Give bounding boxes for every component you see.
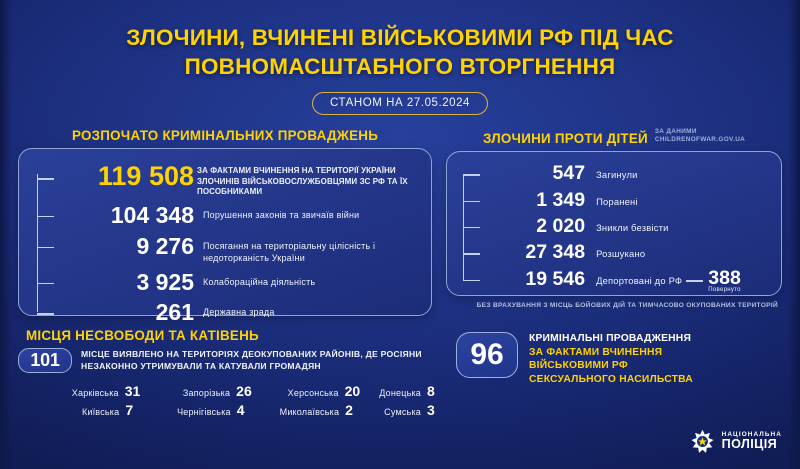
detention-badge: 101 [18,348,72,373]
sv-line-2: ЗА ФАКТАМИ ВЧИНЕННЯ [529,347,662,358]
page-title: ЗЛОЧИНИ, ВЧИНЕНІ ВІЙСЬКОВИМИ РФ ПІД ЧАС … [0,24,800,81]
region-value: 8 [427,383,442,399]
children-value: 2 020 [489,216,585,237]
returned-value: 388 [708,269,741,289]
children-row: 27 348 Розшукано [489,242,767,263]
region-value: 26 [236,383,252,399]
proceedings-value: 104 348 [63,203,194,229]
connector-line [686,280,703,281]
region-item: Київська 7 [24,402,140,418]
proceedings-row: 3 925 Колабораційна діяльність [63,270,417,296]
proceedings-rows: 119 508 ЗА ФАКТАМИ ВЧИНЕННЯ НА ТЕРИТОРІЇ… [37,162,417,326]
sexual-violence-section: 96 КРИМІНАЛЬНІ ПРОВАДЖЕННЯ ЗА ФАКТАМИ ВЧ… [456,328,782,418]
region-name: Сумська [384,407,421,417]
police-logo: НАЦІОНАЛЬНА ПОЛІЦІЯ [690,429,782,454]
proceedings-heading-text: РОЗПОЧАТО КРИМІНАЛЬНИХ ПРОВАДЖЕНЬ [72,128,378,143]
header: ЗЛОЧИНИ, ВЧИНЕНІ ВІЙСЬКОВИМИ РФ ПІД ЧАС … [0,0,800,115]
detention-heading: МІСЦЯ НЕСВОБОДИ ТА КАТІВЕНЬ [18,328,442,343]
proceedings-value: 119 508 [63,162,194,192]
region-value: 2 [345,402,360,418]
proceedings-row: 9 276 Посягання на територіальну цілісні… [63,234,417,265]
region-value: 31 [125,383,141,399]
region-name: Чернігівська [177,407,231,417]
region-name: Донецька [379,388,421,398]
children-value: 547 [489,163,585,184]
children-rows: 547 Загинули 1 349 Поранені 2 020 Зникли… [463,163,767,293]
proceedings-label: Посягання на територіальну цілісність і … [194,234,417,265]
region-item: Запорізька 26 [140,383,251,399]
left-edge-vignette [0,0,12,469]
region-name: Херсонська [288,388,339,398]
main-columns: РОЗПОЧАТО КРИМІНАЛЬНИХ ПРОВАДЖЕНЬ 119 50… [0,115,800,316]
children-heading: ЗЛОЧИНИ ПРОТИ ДІТЕЙ ЗА ДАНИМИ CHILDRENOF… [446,128,782,146]
children-label: Поранені [585,190,638,209]
children-returned: 388 Повернуто [686,269,741,294]
children-row: 2 020 Зникли безвісти [489,216,767,237]
proceedings-label: Порушення законів та звичаїв війни [194,203,359,222]
children-source-line1: ЗА ДАНИМИ [655,128,697,135]
proceedings-value: 9 276 [63,234,194,260]
regions-list: Харківська 31 Запорізька 26 Херсонська 2… [18,383,442,418]
region-name: Київська [82,407,119,417]
region-name: Миколаївська [280,407,340,417]
children-label: Депортовані до РФ [585,269,682,288]
children-label: Загинули [585,163,638,182]
date-badge: СТАНОМ НА 27.05.2024 [312,92,488,115]
region-item: Донецька 8 [360,383,442,399]
regions-row: Київська 7 Чернігівська 4 Миколаївська 2… [24,402,442,418]
children-column: ЗЛОЧИНИ ПРОТИ ДІТЕЙ ЗА ДАНИМИ CHILDRENOF… [446,128,782,316]
sv-line-4: СЕКСУАЛЬНОГО НАСИЛЬСТВА [529,374,693,385]
proceedings-value: 261 [63,300,194,326]
children-value: 27 348 [489,242,585,263]
children-row: 19 546 Депортовані до РФ 388 Повернуто [489,269,767,294]
region-name: Запорізька [183,388,230,398]
region-item: Харківська 31 [24,383,140,399]
region-name: Харківська [72,388,119,398]
region-value: 3 [427,402,442,418]
children-source: ЗА ДАНИМИ CHILDRENOFWAR.GOV.UA [655,128,745,146]
children-source-line2: CHILDRENOFWAR.GOV.UA [655,136,745,143]
region-value: 7 [125,402,140,418]
proceedings-row: 104 348 Порушення законів та звичаїв вій… [63,203,417,229]
children-label: Розшукано [585,242,645,261]
children-row: 1 349 Поранені [489,190,767,211]
children-value: 1 349 [489,190,585,211]
sexual-violence-badge: 96 [456,332,518,378]
proceedings-row: 119 508 ЗА ФАКТАМИ ВЧИНЕННЯ НА ТЕРИТОРІЇ… [63,162,417,198]
proceedings-label: Колабораційна діяльність [194,270,315,289]
region-item: Сумська 3 [360,402,442,418]
police-logo-text: НАЦІОНАЛЬНА ПОЛІЦІЯ [722,432,782,452]
region-value: 20 [345,383,361,399]
children-panel: 547 Загинули 1 349 Поранені 2 020 Зникли… [446,151,782,296]
proceedings-value: 3 925 [63,270,194,296]
police-star-badge-icon [690,429,715,454]
region-item: Чернігівська 4 [140,402,251,418]
returned-caption: Повернуто [708,287,741,293]
children-label: Зникли безвісти [585,216,668,235]
regions-row: Харківська 31 Запорізька 26 Херсонська 2… [24,383,442,399]
detention-summary: 101 МІСЦЕ ВИЯВЛЕНО НА ТЕРИТОРІЯХ ДЕОКУПО… [18,348,442,373]
proceedings-label: ЗА ФАКТАМИ ВЧИНЕННЯ НА ТЕРИТОРІЇ УКРАЇНИ… [194,162,417,198]
children-value: 19 546 [489,269,585,290]
children-heading-text: ЗЛОЧИНИ ПРОТИ ДІТЕЙ [483,131,648,146]
logo-line-bottom: ПОЛІЦІЯ [722,438,782,451]
sv-line-3: ВІЙСЬКОВИМИ РФ [529,360,628,371]
proceedings-label: Державна зрада [194,300,275,319]
detention-heading-text: МІСЦЯ НЕСВОБОДИ ТА КАТІВЕНЬ [26,328,259,343]
right-edge-vignette [788,0,800,469]
proceedings-column: РОЗПОЧАТО КРИМІНАЛЬНИХ ПРОВАДЖЕНЬ 119 50… [18,128,432,316]
sv-line-1: КРИМІНАЛЬНІ ПРОВАДЖЕННЯ [529,333,691,344]
proceedings-heading: РОЗПОЧАТО КРИМІНАЛЬНИХ ПРОВАДЖЕНЬ [18,128,432,143]
returned-group: 388 Повернуто [708,269,741,294]
region-item: Миколаївська 2 [252,402,360,418]
detention-column: МІСЦЯ НЕСВОБОДИ ТА КАТІВЕНЬ 101 МІСЦЕ ВИ… [18,328,442,418]
children-row: 547 Загинули [489,163,767,184]
proceedings-panel: 119 508 ЗА ФАКТАМИ ВЧИНЕННЯ НА ТЕРИТОРІЇ… [18,148,432,316]
detention-description: МІСЦЕ ВИЯВЛЕНО НА ТЕРИТОРІЯХ ДЕОКУПОВАНИ… [81,349,442,373]
sexual-violence-text: КРИМІНАЛЬНІ ПРОВАДЖЕННЯ ЗА ФАКТАМИ ВЧИНЕ… [529,332,693,386]
region-value: 4 [237,402,252,418]
lower-section: МІСЦЯ НЕСВОБОДИ ТА КАТІВЕНЬ 101 МІСЦЕ ВИ… [0,316,800,418]
children-footnote: БЕЗ ВРАХУВАННЯ З МІСЦЬ БОЙОВИХ ДІЙ ТА ТИ… [446,302,782,311]
region-item: Херсонська 20 [252,383,360,399]
proceedings-row: 261 Державна зрада [63,300,417,326]
